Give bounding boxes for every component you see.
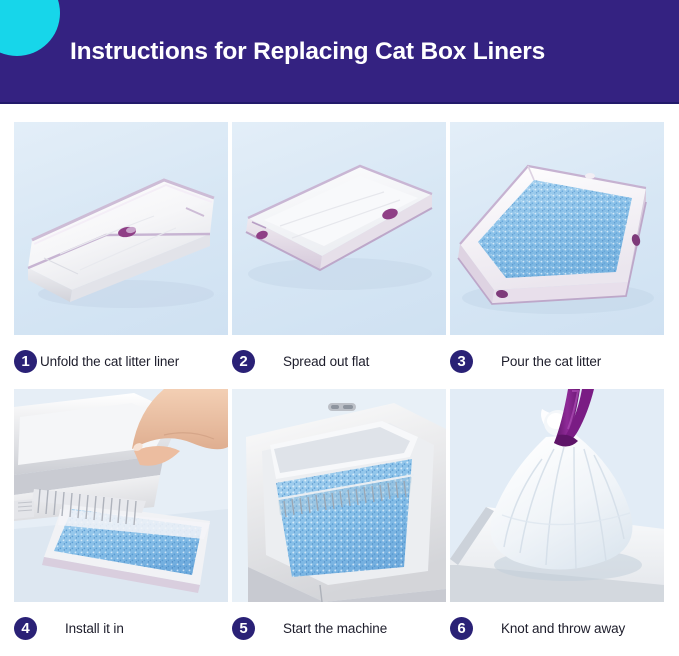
step-badge: 1 xyxy=(14,350,37,373)
instruction-row-2: 4 Install it in xyxy=(0,389,679,656)
instruction-step-6: 6 Knot and throw away xyxy=(450,389,664,656)
step-1-photo xyxy=(14,122,228,335)
step-caption-text: Pour the cat litter xyxy=(501,354,601,369)
step-caption-text: Install it in xyxy=(65,621,124,636)
step-4-photo xyxy=(14,389,228,602)
step-2-caption: 2 Spread out flat xyxy=(232,344,446,378)
instruction-step-3: 3 Pour the cat litter xyxy=(450,122,664,389)
step-caption-text: Start the machine xyxy=(283,621,387,636)
step-caption-text: Knot and throw away xyxy=(501,621,625,636)
instruction-step-5: 5 Start the machine xyxy=(232,389,446,656)
step-3-caption: 3 Pour the cat litter xyxy=(450,344,664,378)
step-caption-text: Spread out flat xyxy=(283,354,369,369)
step-3-photo xyxy=(450,122,664,335)
illustration-install-liner xyxy=(14,389,228,602)
step-badge: 2 xyxy=(232,350,255,373)
step-badge: 6 xyxy=(450,617,473,640)
instruction-row-1: 1 Unfold the cat litter liner xyxy=(0,122,679,389)
step-6-caption: 6 Knot and throw away xyxy=(450,611,664,645)
instruction-step-4: 4 Install it in xyxy=(14,389,228,656)
illustration-tray-with-litter xyxy=(450,122,664,335)
instruction-grid: 1 Unfold the cat litter liner xyxy=(0,104,679,653)
instruction-step-2: 2 Spread out flat xyxy=(232,122,446,389)
step-6-photo xyxy=(450,389,664,602)
illustration-liner-flat xyxy=(232,122,446,335)
illustration-folded-liner xyxy=(14,122,228,335)
step-5-caption: 5 Start the machine xyxy=(232,611,446,645)
step-5-photo xyxy=(232,389,446,602)
step-badge: 4 xyxy=(14,617,37,640)
step-caption-text: Unfold the cat litter liner xyxy=(40,354,179,369)
step-2-photo xyxy=(232,122,446,335)
step-badge: 3 xyxy=(450,350,473,373)
illustration-machine-running xyxy=(232,389,446,602)
accent-circle-decoration xyxy=(0,0,60,56)
page-header: Instructions for Replacing Cat Box Liner… xyxy=(0,0,679,104)
illustration-knotted-bag xyxy=(450,389,664,602)
step-4-caption: 4 Install it in xyxy=(14,611,228,645)
step-1-caption: 1 Unfold the cat litter liner xyxy=(14,344,228,378)
page-title: Instructions for Replacing Cat Box Liner… xyxy=(70,0,545,104)
instruction-step-1: 1 Unfold the cat litter liner xyxy=(14,122,228,389)
step-badge: 5 xyxy=(232,617,255,640)
